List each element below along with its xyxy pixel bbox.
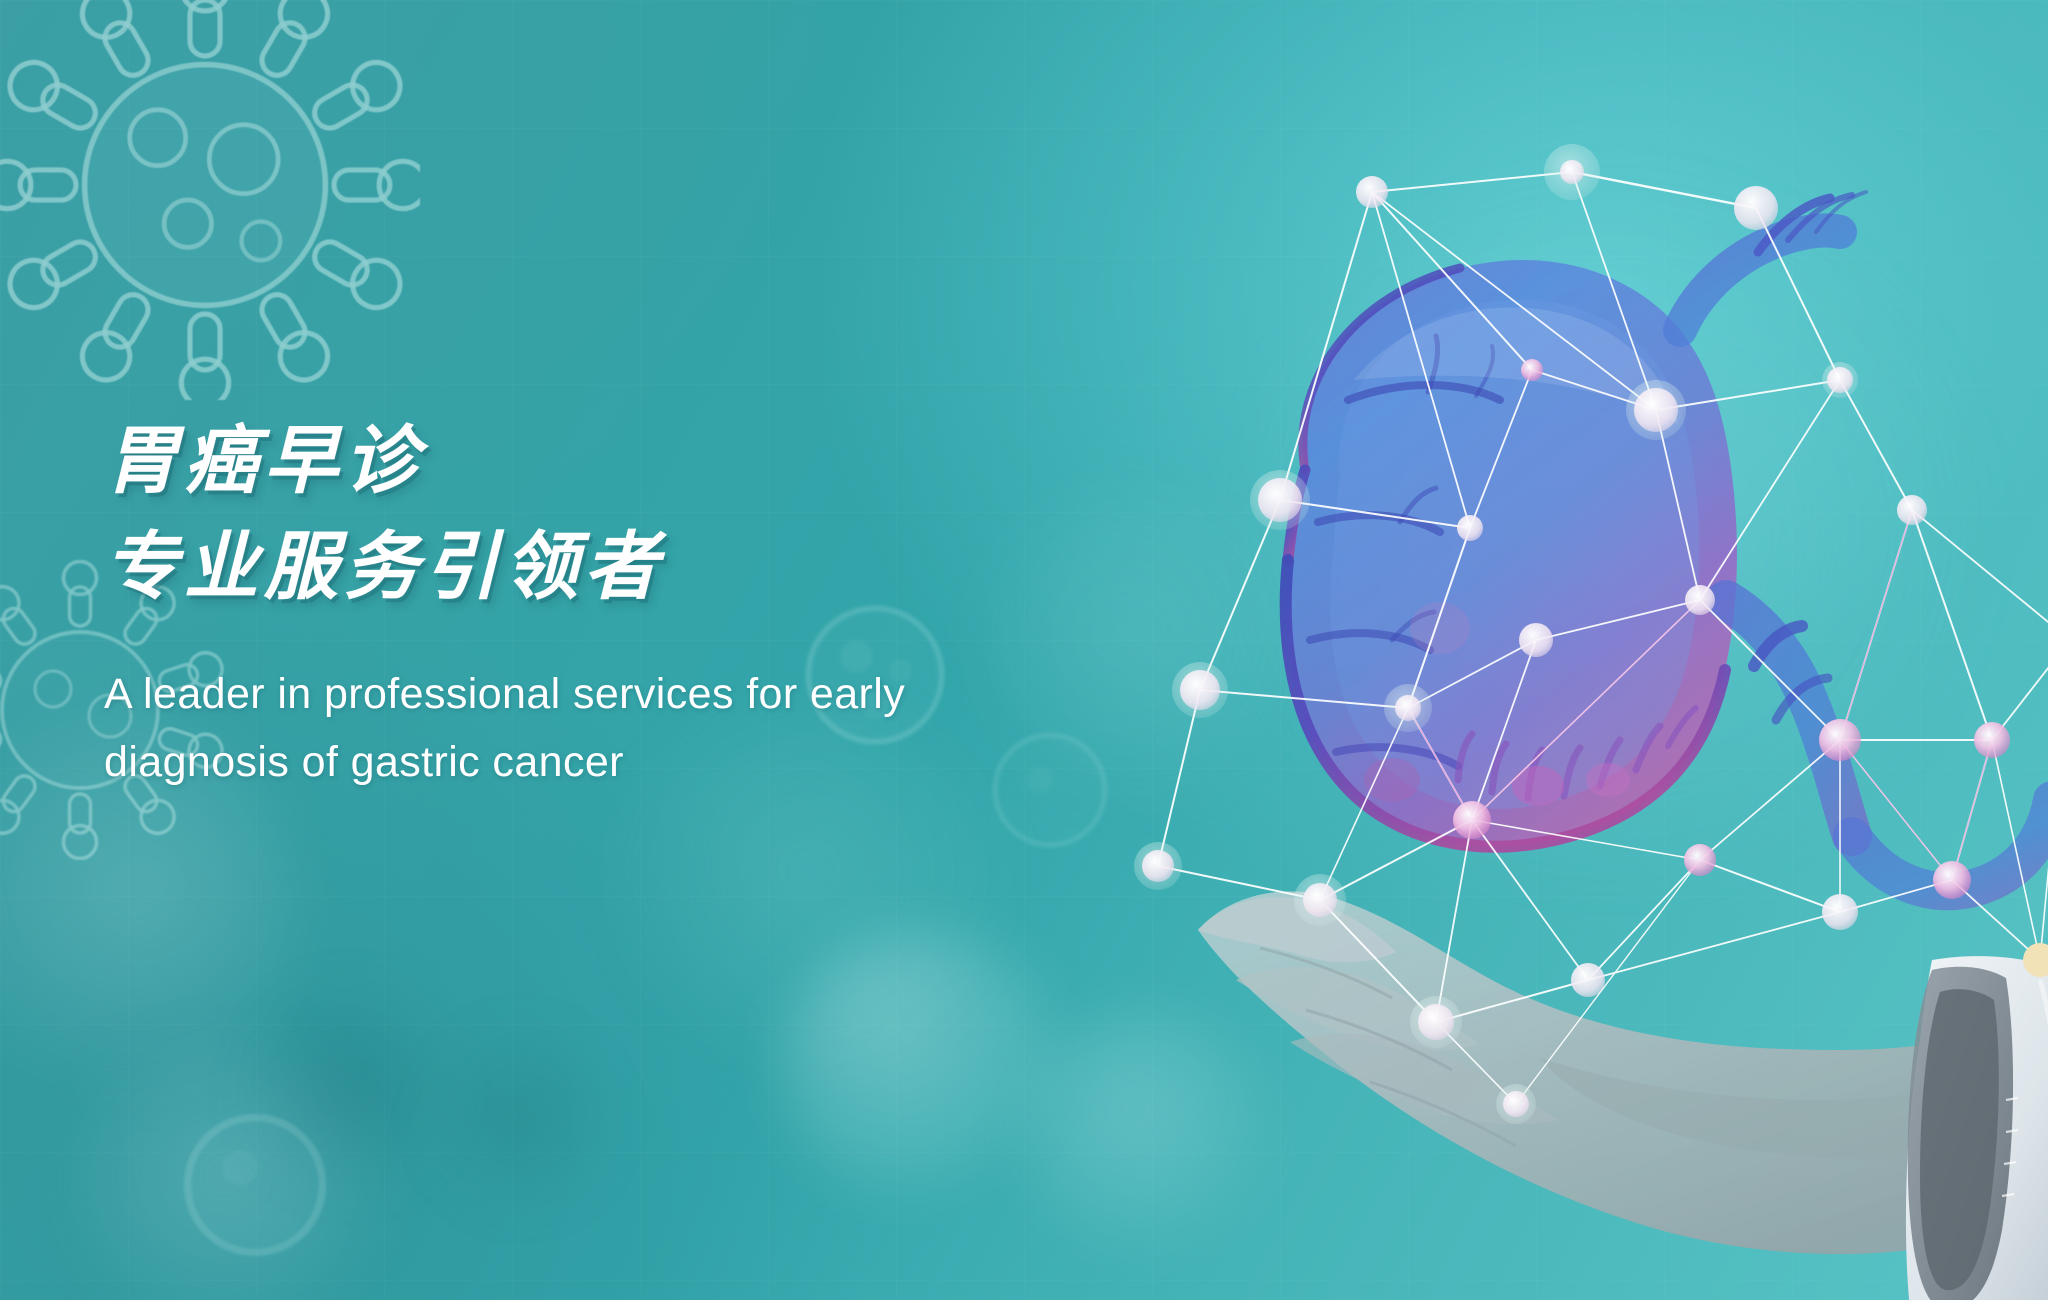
subtitle-line-2: diagnosis of gastric cancer [104, 728, 1114, 796]
banner-copy-block: 胃癌早诊 专业服务引领者 A leader in professional se… [104, 408, 1164, 796]
background-cell-blob [250, 990, 450, 1200]
headline-line-2: 专业服务引领者 [104, 514, 1164, 620]
subtitle-block: A leader in professional services for ea… [104, 660, 1164, 796]
background-cell-blob [780, 930, 1060, 1200]
headline-line-1: 胃癌早诊 [104, 408, 1164, 514]
virus-particle-icon [130, 1060, 380, 1300]
stomach-organ-icon [1286, 192, 2048, 891]
subtitle-line-1: A leader in professional services for ea… [104, 660, 1114, 728]
virus-particle-icon [0, 0, 420, 330]
background-cell-blob [60, 1040, 390, 1300]
lab-coat-sleeve-icon [1906, 956, 2048, 1300]
stomach-in-hand-artwork [1140, 80, 2048, 1300]
open-hand-icon [1198, 891, 1964, 1254]
background-cell-blob [430, 1035, 610, 1215]
marketing-banner: 胃癌早诊 专业服务引领者 A leader in professional se… [0, 0, 2048, 1300]
